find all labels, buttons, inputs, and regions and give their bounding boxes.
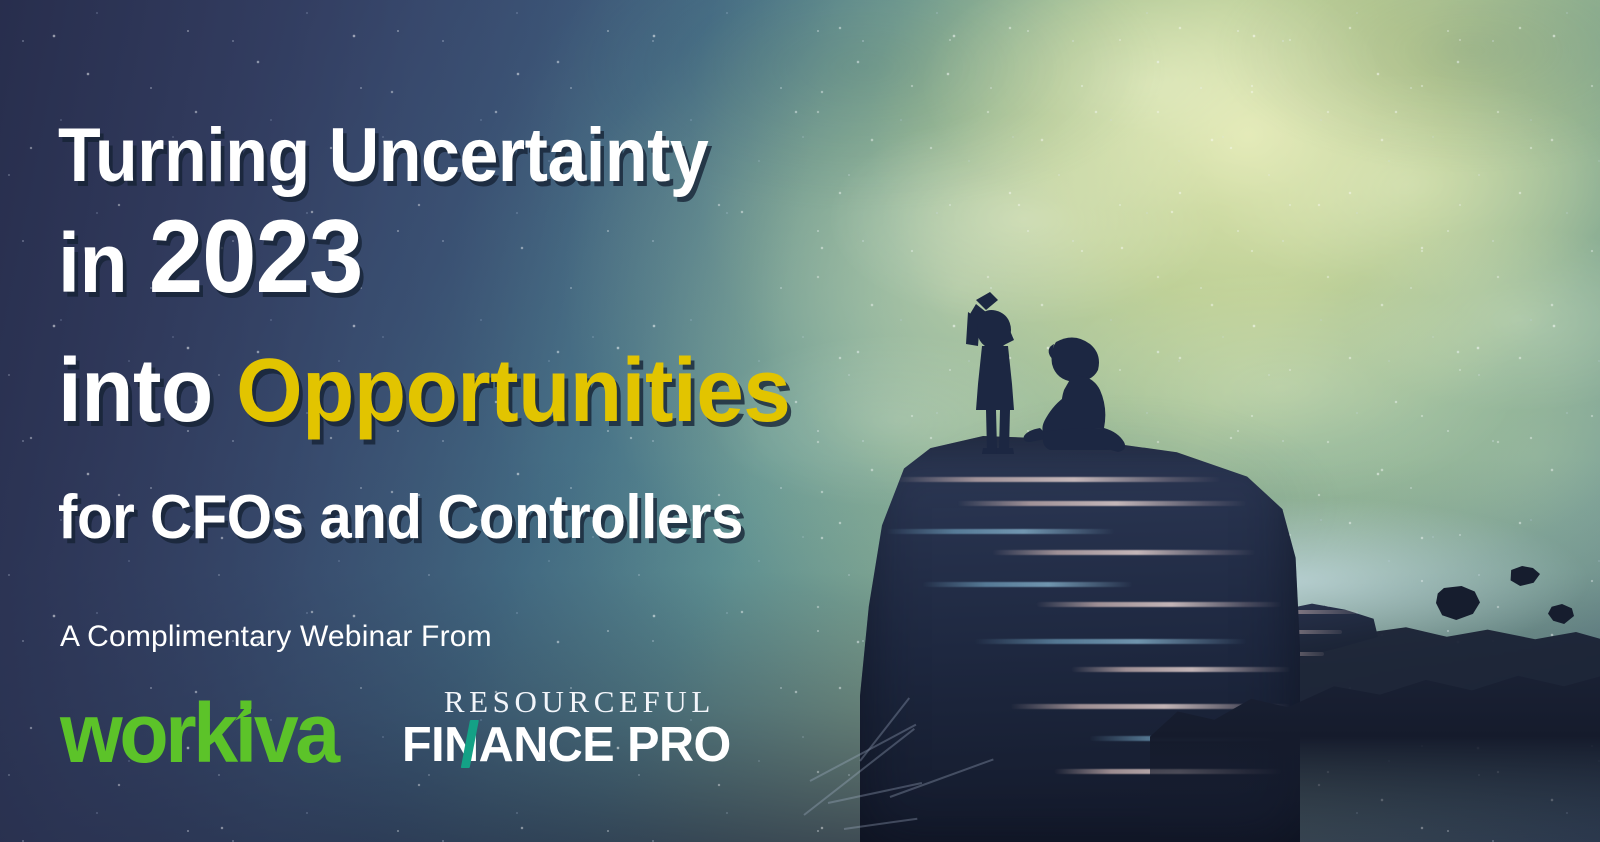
- kicker-text: A Complimentary Webinar From: [60, 620, 492, 654]
- sitting-child-silhouette: [1020, 336, 1136, 458]
- horizon-mist: [928, 472, 1600, 691]
- headline-year: 2023: [149, 199, 363, 315]
- headline-line-1: Turning Uncertainty: [58, 112, 708, 199]
- logo-row: workiva RESOURCEFUL FINANCE PRO: [60, 686, 734, 772]
- headline-line-4: for CFOs and Controllers: [58, 482, 743, 553]
- headline-accent-opportunities: Opportunities: [236, 341, 790, 441]
- rfp-top-line: RESOURCEFUL: [424, 686, 734, 717]
- rfp-bottom-line: FINANCE PRO: [402, 721, 731, 770]
- text-column: Turning Uncertainty in 2023 into Opportu…: [58, 0, 978, 842]
- workiva-logo: workiva: [60, 695, 337, 772]
- rfp-bottom-text: FINANCE PRO: [402, 718, 731, 772]
- headline-line-2: in 2023: [58, 198, 362, 317]
- headline-line-2-prefix: in: [58, 216, 127, 310]
- workiva-wordmark: workiva: [60, 686, 337, 780]
- headline-line-3: into Opportunities: [58, 340, 790, 443]
- webinar-promo-banner: Turning Uncertainty in 2023 into Opportu…: [0, 0, 1600, 842]
- headline-line-3-prefix: into: [58, 341, 213, 441]
- resourceful-finance-pro-logo: RESOURCEFUL FINANCE PRO: [402, 686, 734, 772]
